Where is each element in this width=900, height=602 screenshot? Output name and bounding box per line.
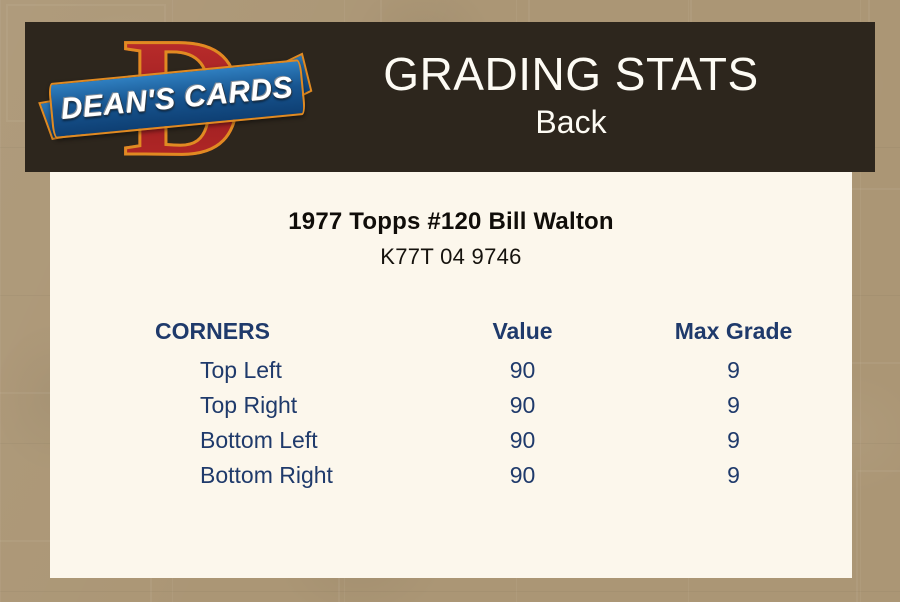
row-max-grade: 9 (615, 458, 852, 493)
table-row: Top Left 90 9 (50, 353, 852, 388)
logo-banner-text: DEAN'S CARDS (59, 71, 294, 127)
page-subtitle: Back (307, 102, 835, 144)
table-row: Bottom Left 90 9 (50, 423, 852, 458)
grading-stats-table: CORNERS Value Max Grade Top Left 90 9 To… (50, 314, 852, 493)
row-max-grade: 9 (615, 353, 852, 388)
column-header-max-grade: Max Grade (615, 314, 852, 353)
row-max-grade: 9 (615, 423, 852, 458)
stats-panel: 1977 Topps #120 Bill Walton K77T 04 9746… (50, 172, 852, 578)
table-header: CORNERS Value Max Grade (50, 314, 852, 353)
card-title: 1977 Topps #120 Bill Walton (50, 208, 852, 236)
row-label: Bottom Right (50, 458, 430, 493)
card-serial-number: K77T 04 9746 (50, 244, 852, 270)
row-value: 90 (430, 388, 615, 423)
deans-cards-logo[interactable]: D DEAN'S CARDS (47, 24, 307, 170)
header-bar: D DEAN'S CARDS GRADING STATS Back (25, 22, 875, 172)
table-body: Top Left 90 9 Top Right 90 9 Bottom Left… (50, 353, 852, 493)
page-title: GRADING STATS (307, 50, 835, 100)
column-header-section: CORNERS (50, 314, 430, 353)
background-card-frame (856, 470, 900, 602)
row-value: 90 (430, 353, 615, 388)
header-title-group: GRADING STATS Back (307, 50, 875, 143)
table-header-row: CORNERS Value Max Grade (50, 314, 852, 353)
row-label: Bottom Left (50, 423, 430, 458)
row-label: Top Right (50, 388, 430, 423)
row-value: 90 (430, 458, 615, 493)
table-row: Top Right 90 9 (50, 388, 852, 423)
row-max-grade: 9 (615, 388, 852, 423)
row-label: Top Left (50, 353, 430, 388)
column-header-value: Value (430, 314, 615, 353)
row-value: 90 (430, 423, 615, 458)
logo-ribbon-banner: DEAN'S CARDS (48, 59, 306, 139)
table-row: Bottom Right 90 9 (50, 458, 852, 493)
